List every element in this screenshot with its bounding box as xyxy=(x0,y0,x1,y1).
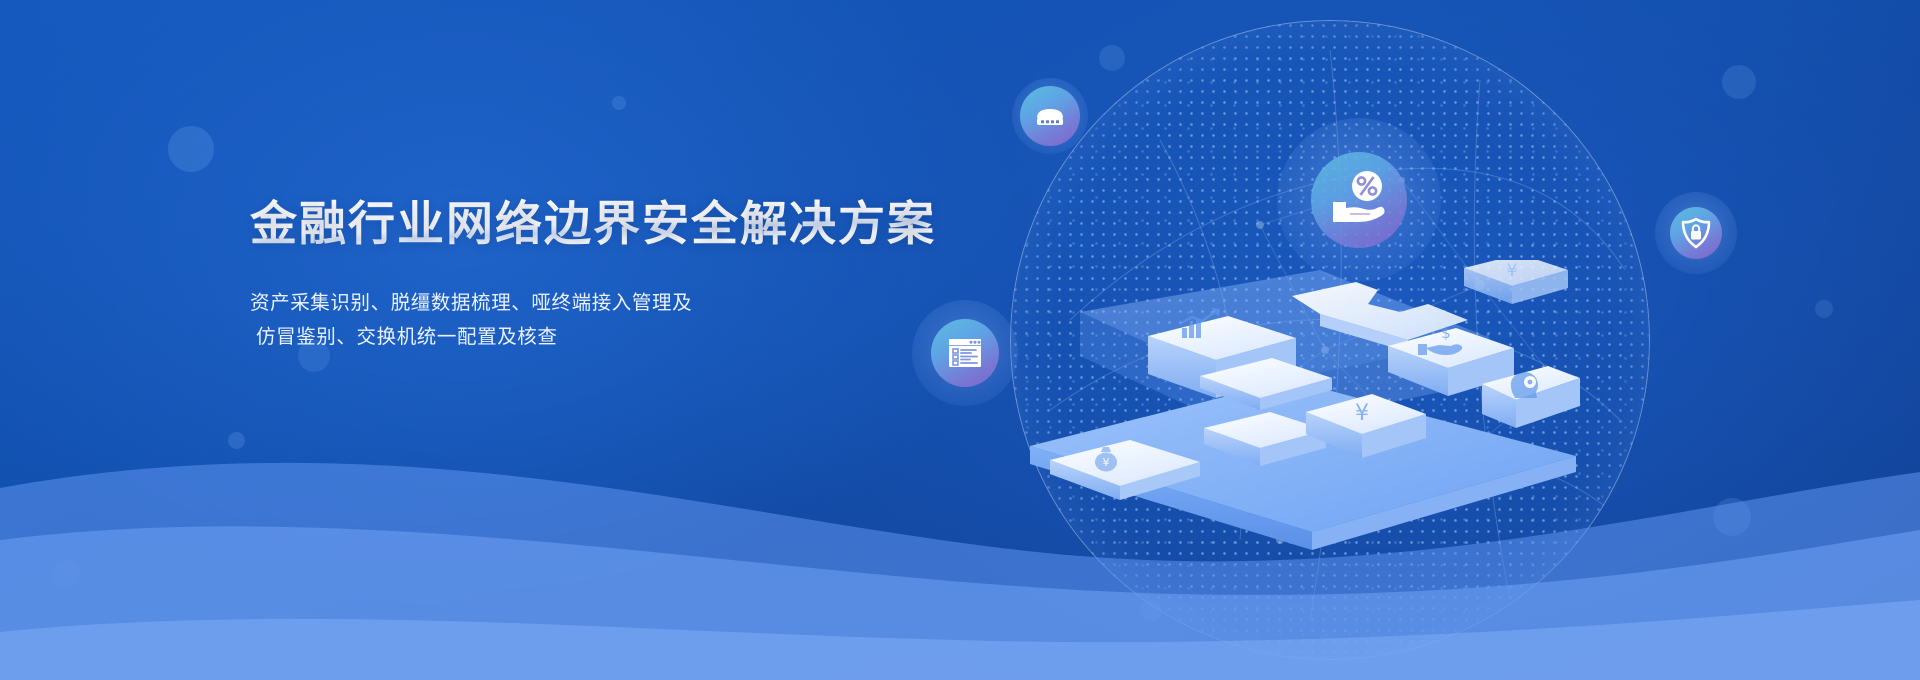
page-title: 金融行业网络边界安全解决方案 xyxy=(250,198,1010,250)
server-badge xyxy=(1012,78,1088,154)
hand-percent-icon xyxy=(1321,162,1397,238)
bokeh-circle-3 xyxy=(1722,65,1756,99)
banner-copy: 金融行业网络边界安全解决方案 资产采集识别、脱缰数据梳理、哑终端接入管理及 仿冒… xyxy=(250,198,1010,354)
finance-badge xyxy=(1289,130,1429,270)
shield-badge xyxy=(1663,200,1729,266)
yen-tile-top: ¥ xyxy=(1464,260,1568,304)
finance-security-solution-banner: ¥ xyxy=(0,0,1920,680)
bokeh-circle-10 xyxy=(1815,300,1833,318)
server-icon xyxy=(1032,98,1068,134)
svg-text:$: $ xyxy=(1441,324,1451,342)
document-list-icon xyxy=(944,332,986,374)
svg-text:¥: ¥ xyxy=(1507,261,1518,281)
subtitle-line-1: 资产采集识别、脱缰数据梳理、哑终端接入管理及 xyxy=(250,286,1010,320)
bokeh-circle-1 xyxy=(168,126,214,172)
bottom-wave-decoration xyxy=(0,380,1920,680)
bokeh-circle-7 xyxy=(612,96,626,110)
shield-lock-icon xyxy=(1679,216,1713,250)
subtitle-line-2: 仿冒鉴别、交换机统一配置及核查 xyxy=(250,320,1010,354)
banner-subtitle: 资产采集识别、脱缰数据梳理、哑终端接入管理及 仿冒鉴别、交换机统一配置及核查 xyxy=(250,286,1010,354)
